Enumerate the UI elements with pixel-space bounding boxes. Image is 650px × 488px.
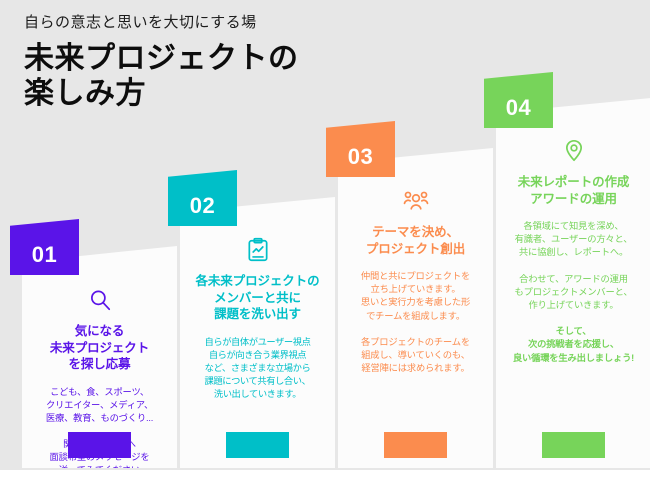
step-number-badge: 04 (484, 72, 553, 128)
step-card-content: 未来レポートの作成アワードの運用各領域にて知見を深め、有識者、ユーザーの方々と、… (496, 137, 650, 365)
step-paragraph-line: クリエイター、メディア、 (29, 399, 170, 412)
step-title: テーマを決め、プロジェクト創出 (345, 224, 486, 257)
step-paragraph-line: 合わせて、アワードの運用 (503, 273, 644, 286)
location-pin-icon (561, 137, 587, 165)
step-accent-bar (542, 432, 605, 458)
step-title-line: アワードの運用 (503, 191, 644, 208)
step-paragraph-line: 各領域にて知見を深め、 (503, 220, 644, 233)
step-paragraph-line: 作り上げていきます。 (503, 299, 644, 312)
step-accent-bar (384, 432, 447, 458)
step-title: 各未来プロジェクトのメンバーと共に課題を洗い出す (187, 273, 328, 323)
clipboard-icon (245, 236, 271, 264)
step-title: 気になる未来プロジェクトを探し応募 (29, 323, 170, 373)
step-number-badge: 01 (10, 219, 79, 275)
step-paragraph-line: 仲間と共にプロジェクトを (345, 270, 486, 283)
step-number: 04 (506, 95, 531, 121)
step-title-line: 気になる (29, 323, 170, 340)
step-card-content: 各未来プロジェクトのメンバーと共に課題を洗い出す自らが自体がユーザー視点自らが向… (180, 236, 335, 401)
step-number-badge: 03 (326, 121, 395, 177)
infographic-slide: 自らの意志と思いを大切にする場 未来プロジェクトの 楽しみ方 気になる未来プロジ… (0, 0, 650, 488)
step-card-content: テーマを決め、プロジェクト創出仲間と共にプロジェクトを立ち上げていきます。思いと… (338, 187, 493, 375)
step-paragraph: 各プロジェクトのチームを組成し、導いていくのも、経営陣には求められます。 (345, 336, 486, 376)
step-title-line: 課題を洗い出す (187, 306, 328, 323)
step-title-line: 未来レポートの作成 (503, 174, 644, 191)
step-paragraph: そして、次の挑戦者を応援し、良い循環を生み出しましょう! (503, 325, 644, 365)
step-paragraph-line: 思いと実行力を考慮した形 (345, 296, 486, 309)
step-paragraph-line: 経営陣には求められます。 (345, 362, 486, 375)
step-number: 02 (190, 193, 215, 219)
step-title: 未来レポートの作成アワードの運用 (503, 174, 644, 207)
step-card[interactable]: 未来レポートの作成アワードの運用各領域にて知見を深め、有識者、ユーザーの方々と、… (496, 98, 650, 468)
step-paragraph-line: 洗い出していきます。 (187, 388, 328, 401)
step-paragraph: 仲間と共にプロジェクトを立ち上げていきます。思いと実行力を考慮した形でチームを組… (345, 270, 486, 323)
step-paragraph-line: 次の挑戦者を応援し、 (503, 338, 644, 351)
step-paragraph-line: 自らが向き合う業界視点 (187, 349, 328, 362)
step-paragraph: 各領域にて知見を深め、有識者、ユーザーの方々と、共に協創し、レポートへ。 (503, 220, 644, 260)
step-paragraph-line: 送ってみてください (29, 464, 170, 477)
team-icon (403, 187, 429, 215)
step-paragraph-line: でチームを組成します。 (345, 310, 486, 323)
step-paragraph-line: 組成し、導いていくのも、 (345, 349, 486, 362)
step-number: 03 (348, 144, 373, 170)
step-paragraph-line: こども、食、スポーツ、 (29, 386, 170, 399)
step-title-line: プロジェクト創出 (345, 241, 486, 258)
step-paragraph-line: 有識者、ユーザーの方々と、 (503, 233, 644, 246)
step-accent-bar (226, 432, 289, 458)
step-title-line: メンバーと共に (187, 290, 328, 307)
step-paragraph: こども、食、スポーツ、クリエイター、メディア、医療、教育、ものづくり... (29, 386, 170, 426)
step-card[interactable]: 各未来プロジェクトのメンバーと共に課題を洗い出す自らが自体がユーザー視点自らが向… (180, 197, 335, 468)
step-paragraph: 合わせて、アワードの運用もプロジェクトメンバーと、作り上げていきます。 (503, 273, 644, 313)
step-card[interactable]: 気になる未来プロジェクトを探し応募こども、食、スポーツ、クリエイター、メディア、… (22, 246, 177, 468)
step-title-line: テーマを決め、 (345, 224, 486, 241)
magnifier-icon (87, 286, 113, 314)
step-paragraph-line: 自らが自体がユーザー視点 (187, 336, 328, 349)
step-paragraph: 自らが自体がユーザー視点自らが向き合う業界視点など、さまざまな立場から課題につい… (187, 336, 328, 402)
step-number-badge: 02 (168, 170, 237, 226)
step-paragraph-line: そして、 (503, 325, 644, 338)
step-title-line: 未来プロジェクト (29, 340, 170, 357)
step-paragraph-line: 医療、教育、ものづくり... (29, 412, 170, 425)
step-paragraph-line: もプロジェクトメンバーと、 (503, 286, 644, 299)
step-number: 01 (32, 242, 57, 268)
step-paragraph-line: 良い循環を生み出しましょう! (503, 352, 644, 365)
step-title-line: を探し応募 (29, 356, 170, 373)
step-paragraph-line: 各プロジェクトのチームを (345, 336, 486, 349)
step-paragraph-line: 共に協創し、レポートへ。 (503, 246, 644, 259)
step-accent-bar (68, 432, 131, 458)
step-card[interactable]: テーマを決め、プロジェクト創出仲間と共にプロジェクトを立ち上げていきます。思いと… (338, 148, 493, 468)
step-paragraph-line: 立ち上げていきます。 (345, 283, 486, 296)
steps-container: 気になる未来プロジェクトを探し応募こども、食、スポーツ、クリエイター、メディア、… (0, 0, 650, 470)
step-paragraph-line: 課題について共有し合い、 (187, 375, 328, 388)
step-paragraph-line: など、さまざまな立場から (187, 362, 328, 375)
step-title-line: 各未来プロジェクトの (187, 273, 328, 290)
